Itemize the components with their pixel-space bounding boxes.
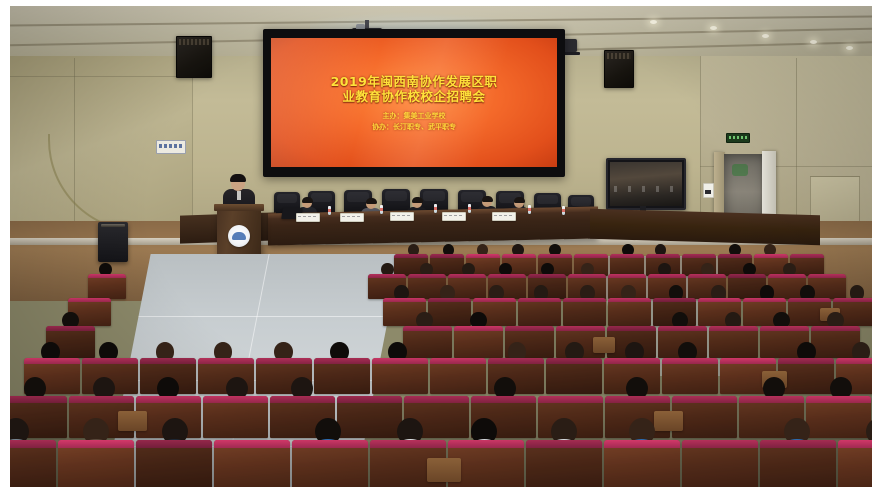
seat-trim [688, 274, 726, 278]
seat-trim [69, 396, 134, 403]
seat-trim [754, 254, 788, 258]
seat-trim [454, 326, 503, 331]
seat-trim [404, 396, 469, 403]
seat-trim [672, 396, 737, 403]
seat-trim [556, 326, 605, 331]
seat-trim [88, 274, 126, 278]
seat-trim [760, 440, 836, 448]
seat-trim [10, 440, 56, 448]
auditorium-seat[interactable] [136, 440, 212, 487]
auditorium-seat[interactable] [292, 440, 368, 487]
seat-trim [526, 440, 602, 448]
seat-trim [833, 298, 872, 302]
auditorium-seat[interactable] [337, 396, 402, 438]
auditorium-seat[interactable] [604, 440, 680, 487]
seat-trim [648, 274, 686, 278]
seat-trim [718, 254, 752, 258]
seat-trim [604, 358, 660, 364]
seat-trim [698, 298, 741, 302]
seat-trim [368, 274, 406, 278]
seat-writing-tablet[interactable] [118, 411, 147, 431]
seat-writing-tablet[interactable] [593, 337, 615, 352]
seat-trim [46, 326, 95, 331]
seat-trim [408, 274, 446, 278]
seat-writing-tablet[interactable] [654, 411, 683, 431]
auditorium-seat[interactable] [610, 254, 644, 276]
seat-trim [808, 274, 846, 278]
seat-trim [466, 254, 500, 258]
auditorium-seat[interactable] [662, 358, 718, 394]
seat-trim [709, 326, 758, 331]
seat-trim [608, 298, 651, 302]
seat-trim [604, 440, 680, 448]
auditorium-seat[interactable] [838, 440, 872, 487]
seat-trim [538, 396, 603, 403]
auditorium-seat[interactable] [430, 254, 464, 276]
auditorium-seat[interactable] [563, 298, 606, 326]
seating-area [10, 6, 872, 487]
seat-trim [790, 254, 824, 258]
seat-writing-tablet[interactable] [427, 458, 461, 482]
seat-trim [838, 440, 872, 448]
seat-trim [605, 396, 670, 403]
seat-trim [256, 358, 312, 364]
auditorium-seat[interactable] [10, 440, 56, 487]
seat-trim [428, 298, 471, 302]
seat-trim [682, 254, 716, 258]
seat-trim [136, 440, 212, 448]
seat-trim [292, 440, 368, 448]
seat-trim [68, 298, 111, 302]
seat-trim [607, 326, 656, 331]
auditorium-seat[interactable] [518, 298, 561, 326]
seat-trim [653, 298, 696, 302]
seat-trim [568, 274, 606, 278]
seat-trim [518, 298, 561, 302]
seat-trim [682, 440, 758, 448]
seat-trim [743, 298, 786, 302]
seat-trim [140, 358, 196, 364]
seat-trim [646, 254, 680, 258]
seat-trim [662, 358, 718, 364]
seat-trim [58, 440, 134, 448]
seat-trim [337, 396, 402, 403]
auditorium-seat[interactable] [546, 358, 602, 394]
auditorium-seat[interactable] [709, 326, 758, 358]
seat-trim [574, 254, 608, 258]
seat-trim [372, 358, 428, 364]
seat-trim [728, 274, 766, 278]
seat-trim [608, 274, 646, 278]
auditorium-seat[interactable] [760, 440, 836, 487]
auditorium-seat[interactable] [314, 358, 370, 394]
auditorium-seat[interactable] [403, 326, 452, 358]
seat-trim [448, 440, 524, 448]
seat-trim [448, 274, 486, 278]
auditorium-photograph: 2019年闽西南协作发展区职 业教育协作校校企招聘会 主办：集美工业学校 协办：… [10, 6, 872, 487]
seat-trim [430, 254, 464, 258]
seat-trim [214, 440, 290, 448]
auditorium-seat[interactable] [88, 274, 126, 299]
seat-trim [394, 254, 428, 258]
seat-trim [836, 358, 872, 364]
seat-trim [806, 396, 871, 403]
seat-trim [488, 274, 526, 278]
seat-trim [546, 358, 602, 364]
seat-trim [760, 326, 809, 331]
seat-trim [314, 358, 370, 364]
seat-trim [203, 396, 268, 403]
auditorium-seat[interactable] [203, 396, 268, 438]
auditorium-seat[interactable] [682, 440, 758, 487]
seat-trim [383, 298, 426, 302]
seat-trim [370, 440, 446, 448]
seat-trim [471, 396, 536, 403]
seat-trim [538, 254, 572, 258]
seat-trim [473, 298, 516, 302]
seat-trim [502, 254, 536, 258]
seat-trim [610, 254, 644, 258]
auditorium-seat[interactable] [526, 440, 602, 487]
seat-trim [198, 358, 254, 364]
auditorium-seat[interactable] [58, 440, 134, 487]
seat-trim [563, 298, 606, 302]
auditorium-seat[interactable] [608, 298, 651, 326]
auditorium-seat[interactable] [428, 298, 471, 326]
auditorium-seat[interactable] [806, 396, 871, 438]
screenshot-root: 2019年闽西南协作发展区职 业教育协作校校企招聘会 主办：集美工业学校 协办：… [0, 0, 890, 501]
seat-trim [24, 358, 80, 364]
seat-trim [430, 358, 486, 364]
auditorium-seat[interactable] [454, 326, 503, 358]
seat-trim [739, 396, 804, 403]
seat-trim [136, 396, 201, 403]
seat-trim [768, 274, 806, 278]
seat-trim [811, 326, 860, 331]
auditorium-seat[interactable] [430, 358, 486, 394]
seat-trim [403, 326, 452, 331]
seat-trim [488, 358, 544, 364]
seat-trim [788, 298, 831, 302]
seat-trim [658, 326, 707, 331]
seat-trim [505, 326, 554, 331]
auditorium-seat[interactable] [214, 440, 290, 487]
seat-trim [720, 358, 776, 364]
seat-trim [528, 274, 566, 278]
seat-trim [778, 358, 834, 364]
seat-trim [10, 396, 67, 403]
seat-trim [270, 396, 335, 403]
seat-trim [82, 358, 138, 364]
auditorium-seat[interactable] [372, 358, 428, 394]
